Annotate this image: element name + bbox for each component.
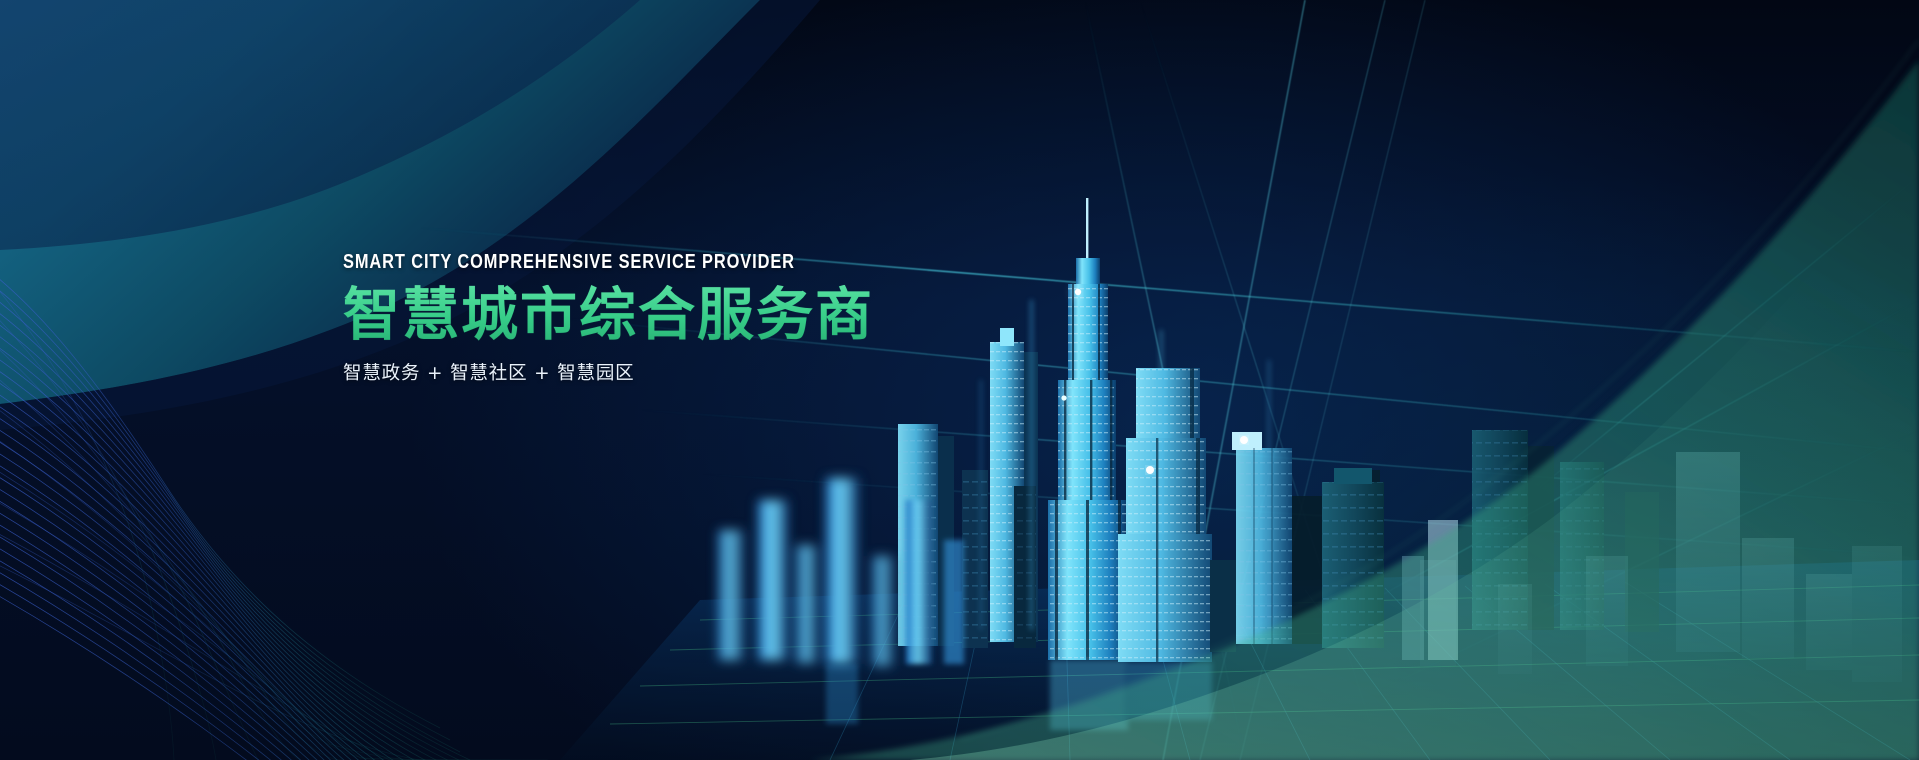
green-translucent-curve [0, 0, 1919, 760]
eyebrow-text: SMART CITY COMPREHENSIVE SERVICE PROVIDE… [343, 250, 795, 274]
page-title: 智慧城市综合服务商 [343, 285, 908, 345]
hero-banner: SMART CITY COMPREHENSIVE SERVICE PROVIDE… [0, 0, 1919, 760]
subtitle-text: 智慧政务 + 智慧社区 + 智慧园区 [343, 359, 908, 385]
hero-copy: SMART CITY COMPREHENSIVE SERVICE PROVIDE… [343, 250, 908, 385]
